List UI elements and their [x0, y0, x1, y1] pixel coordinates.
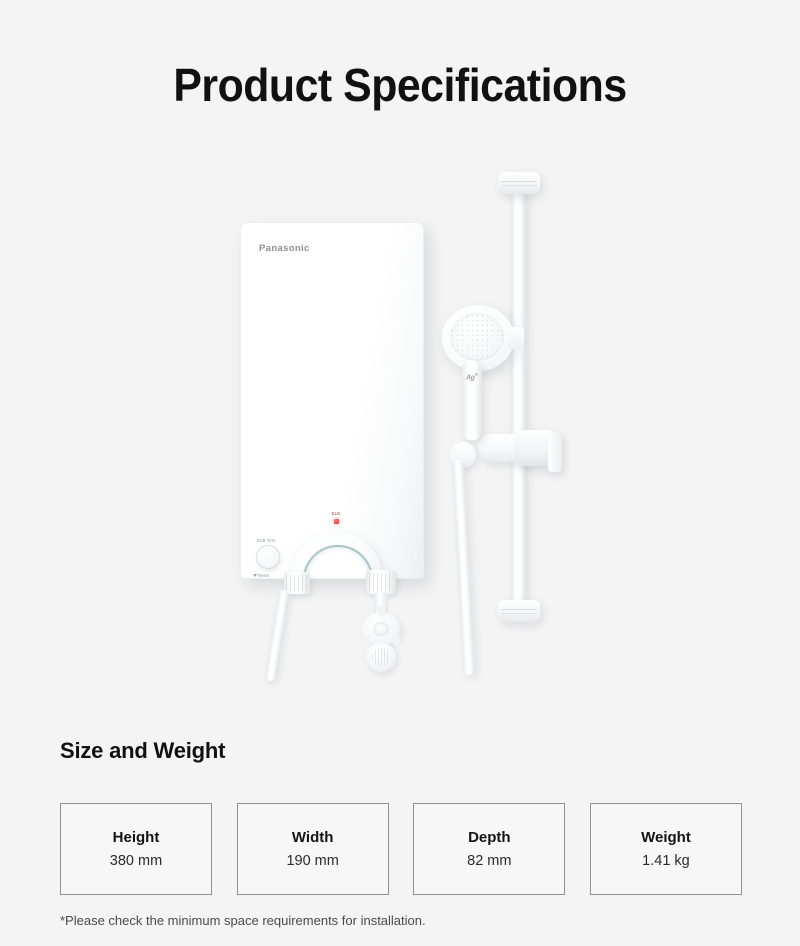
- spec-label: Width: [292, 829, 334, 846]
- reset-arrow-icon: [253, 574, 257, 577]
- spec-card-weight: Weight 1.41 kg: [590, 803, 742, 895]
- shower-head-spray-face: [450, 313, 504, 361]
- elb-test-button[interactable]: [256, 545, 280, 569]
- inlet-connector-nut: [284, 572, 310, 594]
- reset-label: Reset: [258, 573, 269, 578]
- shower-slide-bar: [511, 185, 526, 610]
- shower-head-holder: [478, 430, 566, 468]
- shower-hose: [452, 460, 475, 675]
- product-image: Panasonic ELB On Off High ELB Test Reset: [0, 160, 800, 705]
- inlet-hose: [265, 589, 290, 682]
- spec-label: Depth: [468, 829, 511, 846]
- outlet-connector-nut: [366, 570, 396, 594]
- ag-plus: +: [475, 372, 478, 378]
- spec-card-width: Width 190 mm: [237, 803, 389, 895]
- shower-head-neck: [508, 327, 524, 349]
- water-filter-cup: [366, 642, 396, 672]
- elb-indicator-lamp-icon: [334, 519, 339, 524]
- valve-knob: [362, 612, 400, 646]
- water-heater-unit: Panasonic ELB On Off High ELB Test Reset: [240, 222, 424, 579]
- spec-label: Weight: [641, 829, 691, 846]
- size-and-weight-heading: Size and Weight: [60, 738, 225, 764]
- ag-text: Ag: [466, 374, 475, 381]
- page-title: Product Specifications: [28, 58, 772, 112]
- holder-wall-plate: [548, 432, 562, 472]
- elb-test-label: ELB Test: [257, 538, 275, 543]
- spec-value: 190 mm: [286, 853, 338, 869]
- installation-footnote: *Please check the minimum space requirem…: [60, 913, 426, 928]
- spec-value: 1.41 kg: [642, 853, 690, 869]
- spec-card-height: Height 380 mm: [60, 803, 212, 895]
- slide-bar-bottom-bracket: [498, 600, 540, 622]
- spec-card-list: Height 380 mm Width 190 mm Depth 82 mm W…: [60, 803, 742, 895]
- elb-indicator-label: ELB: [245, 511, 424, 516]
- slide-bar-top-bracket: [498, 172, 540, 194]
- spec-card-depth: Depth 82 mm: [413, 803, 565, 895]
- spec-label: Height: [113, 829, 160, 846]
- spec-value: 380 mm: [110, 853, 162, 869]
- panasonic-brand-logo: Panasonic: [259, 243, 310, 254]
- spec-value: 82 mm: [467, 853, 511, 869]
- silver-ion-ag-icon: Ag+: [466, 372, 477, 381]
